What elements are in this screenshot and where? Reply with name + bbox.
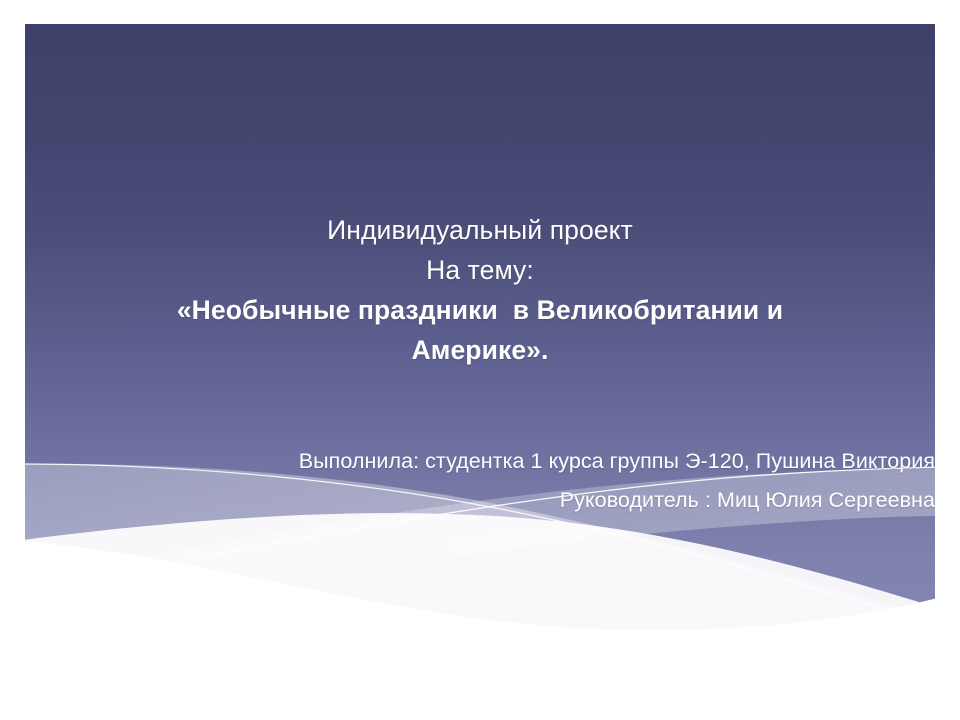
title-line-1: Индивидуальный проект [85,210,875,250]
byline-supervisor: Руководитель : Миц Юлия Сергеевна [85,481,935,520]
title-line-3: «Необычные праздники в Великобритании и [85,290,875,330]
slide-title: Индивидуальный проект На тему: «Необычны… [85,210,875,370]
title-line-2: На тему: [85,250,875,290]
byline-author: Выполнила: студентка 1 курса группы Э-12… [85,442,935,481]
slide-text-layer: Индивидуальный проект На тему: «Необычны… [25,24,935,636]
slide-byline: Выполнила: студентка 1 курса группы Э-12… [85,442,935,520]
title-line-4: Америке». [85,330,875,370]
slide-canvas: Индивидуальный проект На тему: «Необычны… [0,0,960,720]
